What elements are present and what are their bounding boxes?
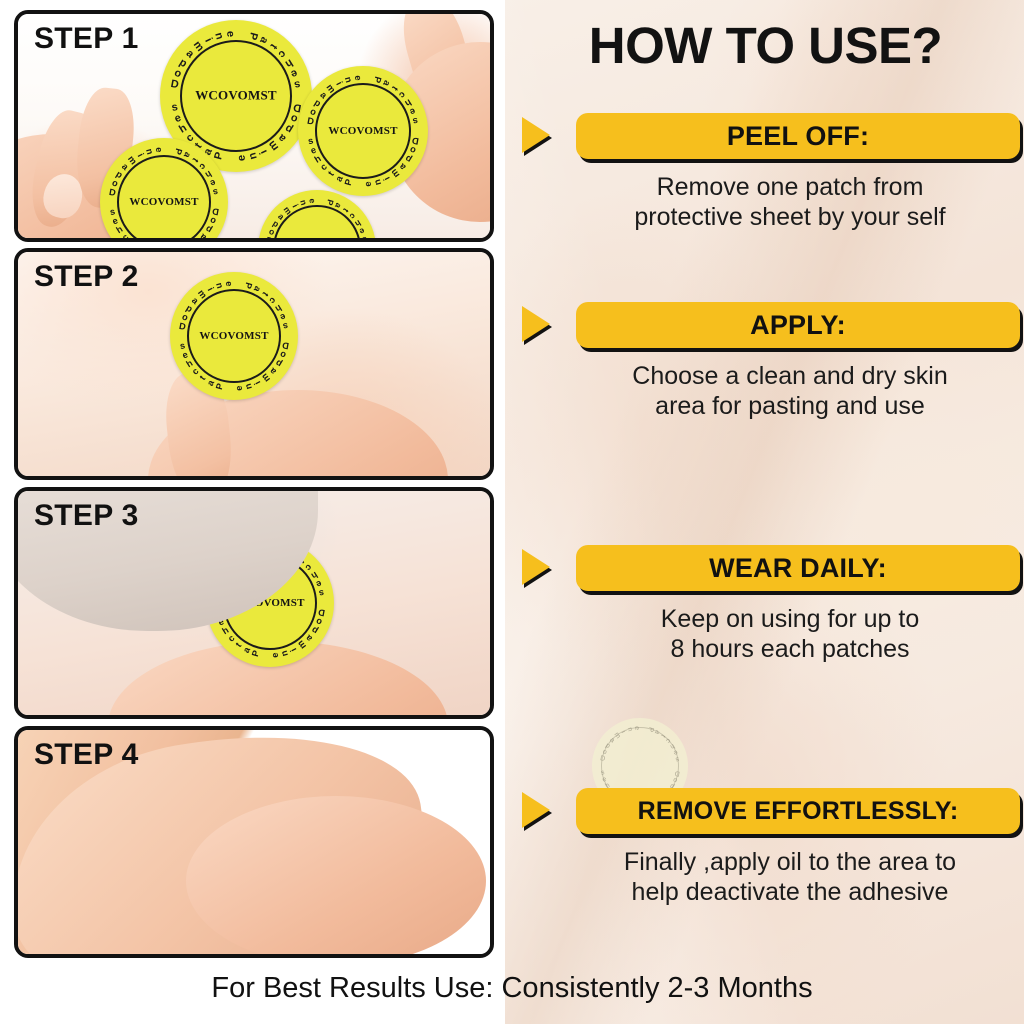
- patch-graphic: Dopamine PatchesDopamine Patches: [258, 190, 376, 242]
- body-line: protective sheet by your self: [560, 203, 1020, 233]
- patch-graphic: Dopamine PatchesDopamine Patches WCOVOMS…: [100, 138, 228, 242]
- heading-pill-peel-off: PEEL OFF:: [576, 113, 1020, 159]
- body-line: 8 hours each patches: [560, 635, 1020, 665]
- footer-note: For Best Results Use: Consistently 2-3 M…: [0, 972, 1024, 1005]
- step-3-label: STEP 3: [34, 499, 139, 533]
- triangle-right-icon: [520, 305, 554, 347]
- body-line: Remove one patch from: [560, 173, 1020, 203]
- body-line: Finally ,apply oil to the area to: [560, 848, 1020, 878]
- body-line: Choose a clean and dry skin: [560, 362, 1020, 392]
- triangle-right-icon: [520, 548, 554, 590]
- patch-graphic: Dopamine PatchesDopamine Patches WCOVOMS…: [170, 272, 298, 400]
- patch-circular-text: Dopamine PatchesDopamine Patches: [258, 190, 376, 242]
- patch-brand-label: WCOVOMST: [100, 196, 228, 208]
- infographic-page: Dopamine PatchesDopamine Patches Dopamin…: [0, 0, 1024, 1024]
- body-line: area for pasting and use: [560, 392, 1020, 422]
- step-panel-2: Dopamine PatchesDopamine Patches WCOVOMS…: [14, 248, 494, 480]
- hand-shape: [186, 796, 486, 958]
- body-line: help deactivate the adhesive: [560, 878, 1020, 908]
- heading-pill-remove: REMOVE EFFORTLESSLY:: [576, 788, 1020, 834]
- heading-label: PEEL OFF:: [727, 121, 869, 152]
- instruction-block-peel-off: PEEL OFF: Remove one patch from protecti…: [520, 113, 1020, 232]
- step-4-label: STEP 4: [34, 738, 139, 772]
- patch-circular-text: Dopamine PatchesDopamine Patches: [100, 138, 228, 242]
- patch-brand-label: WCOVOMST: [298, 125, 428, 137]
- step-1-label: STEP 1: [34, 22, 139, 56]
- heading-label: REMOVE EFFORTLESSLY:: [638, 797, 959, 826]
- instruction-body-apply: Choose a clean and dry skin area for pas…: [520, 362, 1020, 421]
- step-2-label: STEP 2: [34, 260, 139, 294]
- instruction-body-wear-daily: Keep on using for up to 8 hours each pat…: [520, 605, 1020, 664]
- instruction-block-wear-daily: WEAR DAILY: Keep on using for up to 8 ho…: [520, 545, 1020, 664]
- instruction-body-peel-off: Remove one patch from protective sheet b…: [520, 173, 1020, 232]
- body-line: Keep on using for up to: [560, 605, 1020, 635]
- instruction-block-remove: REMOVE EFFORTLESSLY: Finally ,apply oil …: [520, 788, 1020, 907]
- heading-pill-wear-daily: WEAR DAILY:: [576, 545, 1020, 591]
- heading-label: APPLY:: [750, 310, 846, 341]
- patch-graphic: Dopamine PatchesDopamine Patches WCOVOMS…: [298, 66, 428, 196]
- instruction-body-remove: Finally ,apply oil to the area to help d…: [520, 848, 1020, 907]
- triangle-right-icon: [520, 116, 554, 158]
- instruction-block-apply: APPLY: Choose a clean and dry skin area …: [520, 302, 1020, 421]
- patch-brand-label: WCOVOMST: [160, 88, 312, 104]
- patch-brand-label: WCOVOMST: [170, 330, 298, 342]
- step-panel-3: Dopamine PatchesDopamine Patches WCOVOMS…: [14, 487, 494, 719]
- step-panel-4: STEP 4: [14, 726, 494, 958]
- triangle-right-icon: [520, 791, 554, 833]
- page-title: HOW TO USE?: [507, 16, 1024, 75]
- step-panel-1: Dopamine PatchesDopamine Patches WCOVOMS…: [14, 10, 494, 242]
- heading-label: WEAR DAILY:: [709, 553, 887, 584]
- heading-pill-apply: APPLY:: [576, 302, 1020, 348]
